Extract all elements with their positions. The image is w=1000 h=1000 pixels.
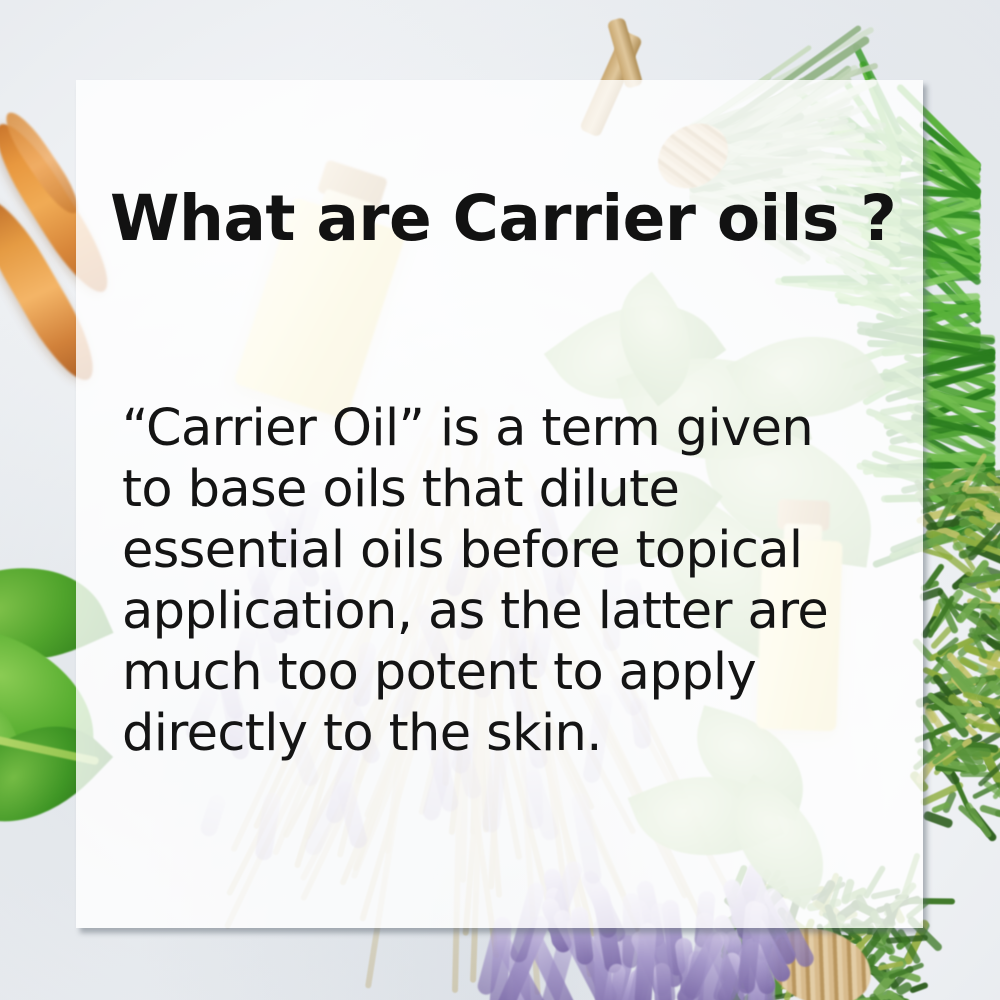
body-line: essential oils before topical xyxy=(122,520,902,581)
body-line: much too potent to apply xyxy=(122,642,902,703)
body-line: application, as the latter are xyxy=(122,581,902,642)
body-line: directly to the skin. xyxy=(122,703,902,764)
body-line: “Carrier Oil” is a term given xyxy=(122,398,902,459)
poster-canvas: What are Carrier oils ? “Carrier Oil” is… xyxy=(0,0,1000,1000)
body-line: to base oils that dilute xyxy=(122,459,902,520)
body-paragraph: “Carrier Oil” is a term given to base oi… xyxy=(122,398,902,764)
page-title: What are Carrier oils ? xyxy=(110,186,896,252)
